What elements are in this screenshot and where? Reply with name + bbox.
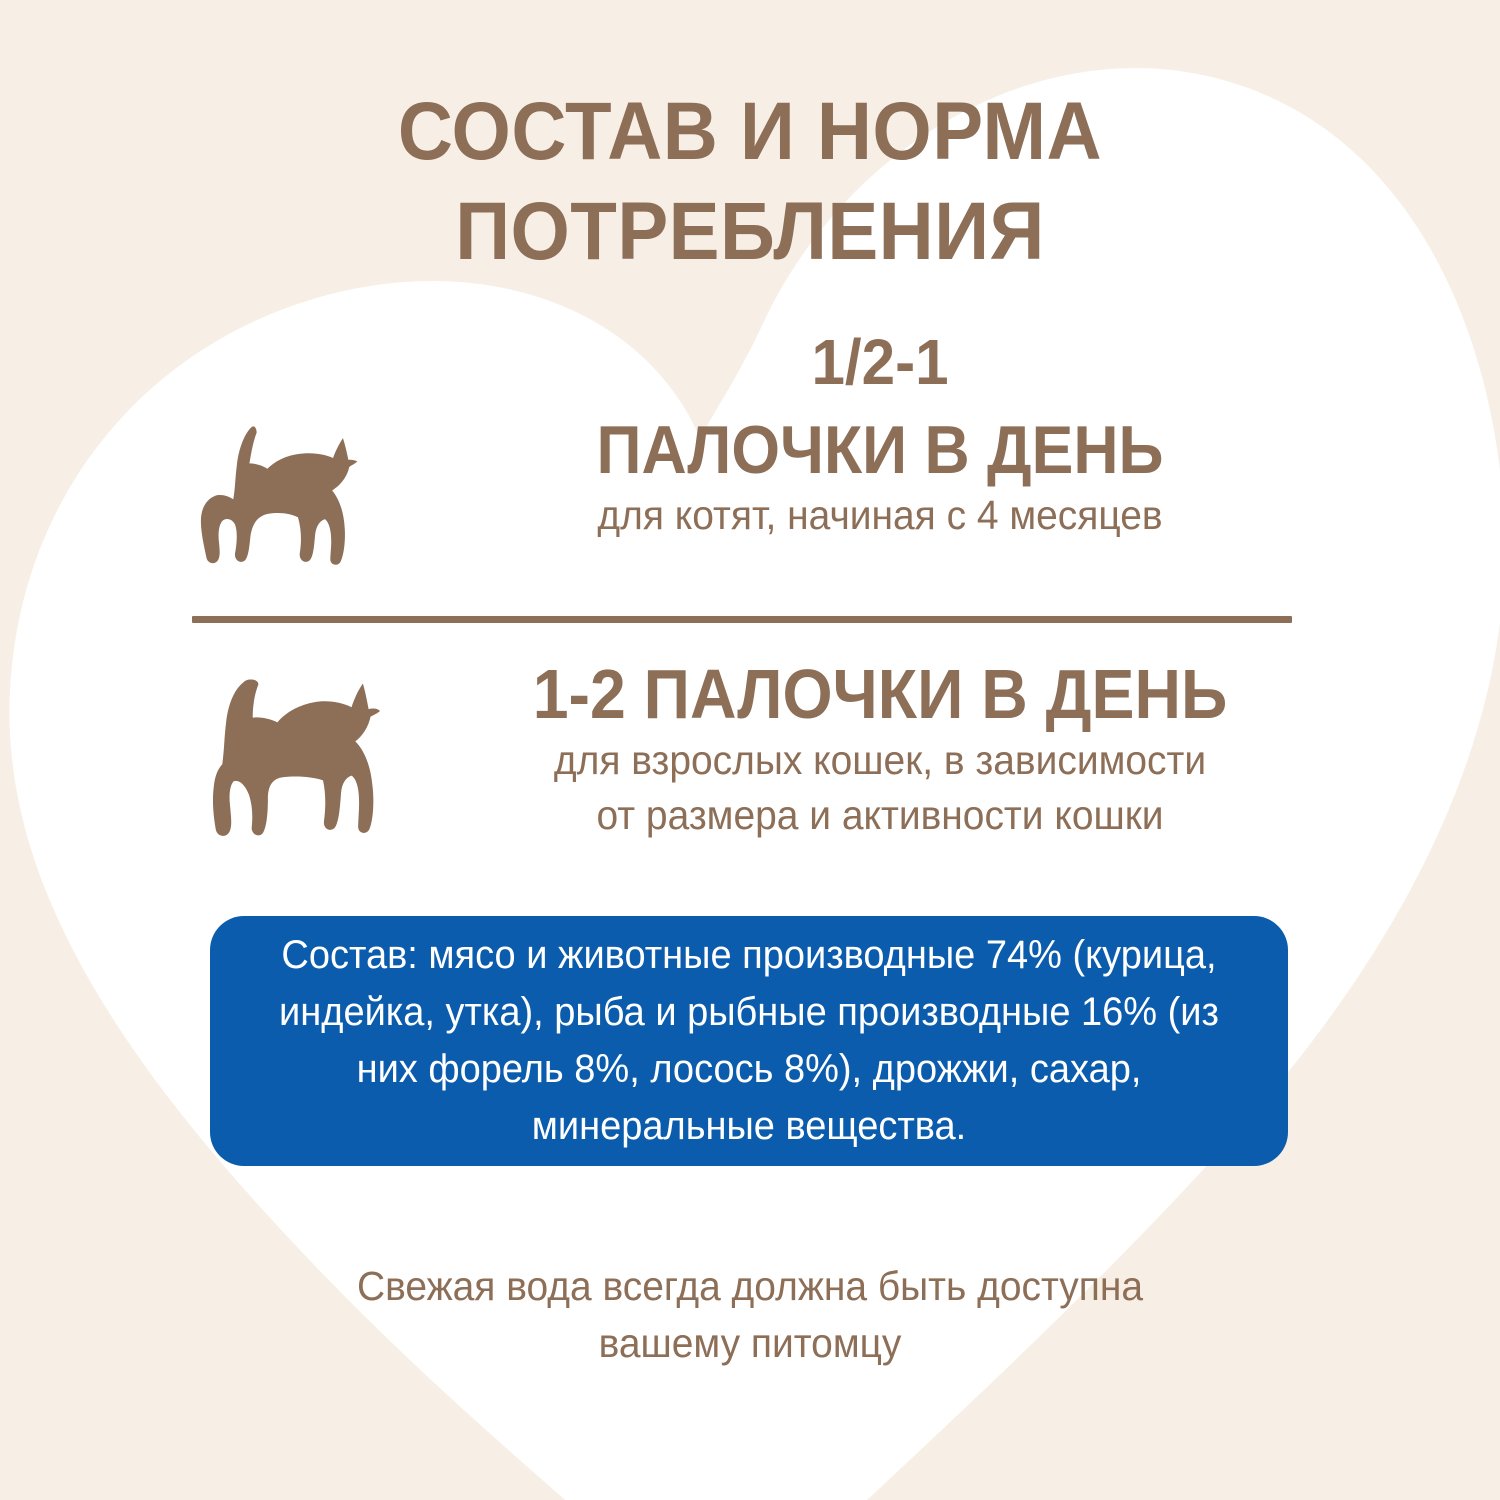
feeding-section-kitten: 1/2-1 ПАЛОЧКИ В ДЕНЬ для котят, начиная …: [150, 330, 1350, 542]
fresh-water-note-line-1: Свежая вода всегда должна быть доступна: [275, 1258, 1225, 1315]
fresh-water-note: Свежая вода всегда должна быть доступна …: [275, 1258, 1225, 1371]
fresh-water-note-line-2: вашему питомцу: [275, 1315, 1225, 1372]
product-info-poster: СОСТАВ И НОРМА ПОТРЕБЛЕНИЯ 1/2-1 ПАЛОЧКИ…: [0, 0, 1500, 1500]
section-divider: [192, 616, 1292, 623]
page-title: СОСТАВ И НОРМА ПОТРЕБЛЕНИЯ: [250, 82, 1250, 282]
adult-subline-line-2: от размера и активности кошки: [434, 788, 1327, 842]
adult-cat-silhouette-icon: [190, 673, 380, 868]
kitten-section-text: 1/2-1 ПАЛОЧКИ В ДЕНЬ для котят, начиная …: [410, 330, 1350, 542]
kitten-amount: 1/2-1: [438, 330, 1322, 394]
kitten-headline: ПАЛОЧКИ В ДЕНЬ: [448, 412, 1313, 488]
kitten-subline: для котят, начиная с 4 месяцев: [434, 488, 1327, 542]
adult-section-text: 1-2 ПАЛОЧКИ В ДЕНЬ для взрослых кошек, в…: [410, 655, 1350, 842]
page-title-line-2: ПОТРЕБЛЕНИЯ: [285, 182, 1215, 282]
adult-subline-line-1: для взрослых кошек, в зависимости: [434, 733, 1327, 787]
feeding-section-adult: 1-2 ПАЛОЧКИ В ДЕНЬ для взрослых кошек, в…: [150, 655, 1350, 842]
composition-callout-box: Состав: мясо и животные производные 74% …: [210, 916, 1288, 1166]
page-title-line-1: СОСТАВ И НОРМА: [285, 82, 1215, 182]
adult-headline: 1-2 ПАЛОЧКИ В ДЕНЬ: [448, 655, 1313, 733]
kitten-silhouette-icon: [190, 422, 370, 587]
composition-text: Состав: мясо и животные производные 74% …: [269, 927, 1229, 1154]
